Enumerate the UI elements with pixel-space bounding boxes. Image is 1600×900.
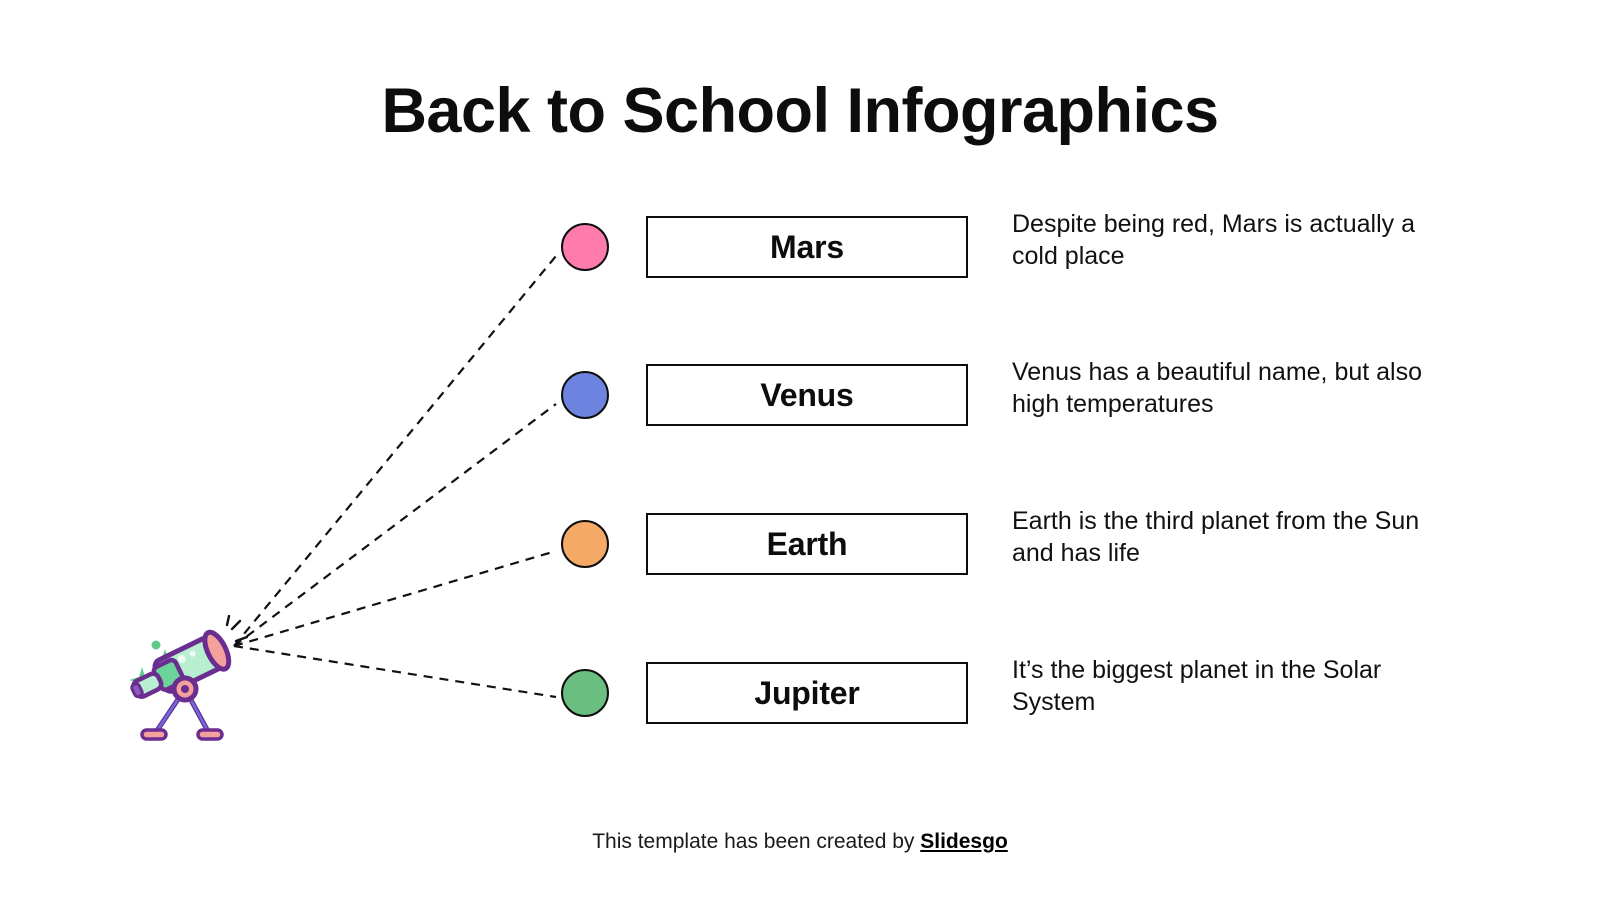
slidesgo-link[interactable]: Slidesgo — [920, 830, 1008, 853]
telescope-feet — [142, 730, 222, 739]
planet-dot-mars[interactable] — [561, 223, 609, 271]
footer-credit: This template has been created by Slides… — [0, 830, 1600, 854]
footer-prefix: This template has been created by — [592, 830, 920, 853]
planet-label-box-mars[interactable]: Mars — [646, 216, 968, 278]
planet-name-jupiter: Jupiter — [754, 675, 859, 712]
planet-description-earth: Earth is the third planet from the Sun a… — [1012, 506, 1432, 569]
planet-dot-jupiter[interactable] — [561, 669, 609, 717]
slide-canvas: Back to School Infographics Mars Despite… — [0, 0, 1600, 900]
planet-description-mars: Despite being red, Mars is actually a co… — [1012, 209, 1432, 272]
connector-line-mars — [234, 256, 556, 646]
planet-name-mars: Mars — [770, 229, 844, 266]
planet-label-box-jupiter[interactable]: Jupiter — [646, 662, 968, 724]
page-title: Back to School Infographics — [0, 78, 1600, 144]
planet-label-box-earth[interactable]: Earth — [646, 513, 968, 575]
planet-description-jupiter: It’s the biggest planet in the Solar Sys… — [1012, 655, 1432, 718]
planet-label-box-venus[interactable]: Venus — [646, 364, 968, 426]
planet-dot-venus[interactable] — [561, 371, 609, 419]
planet-name-earth: Earth — [767, 526, 848, 563]
infographic-row: Earth Earth is the third planet from the… — [0, 520, 1600, 584]
planet-dot-earth[interactable] — [561, 520, 609, 568]
planet-description-venus: Venus has a beautiful name, but also hig… — [1012, 357, 1432, 420]
planet-name-venus: Venus — [760, 377, 853, 414]
infographic-row: Venus Venus has a beautiful name, but al… — [0, 371, 1600, 435]
telescope-illustration — [128, 615, 248, 750]
infographic-row: Mars Despite being red, Mars is actually… — [0, 223, 1600, 287]
telescope-rays — [227, 616, 247, 641]
